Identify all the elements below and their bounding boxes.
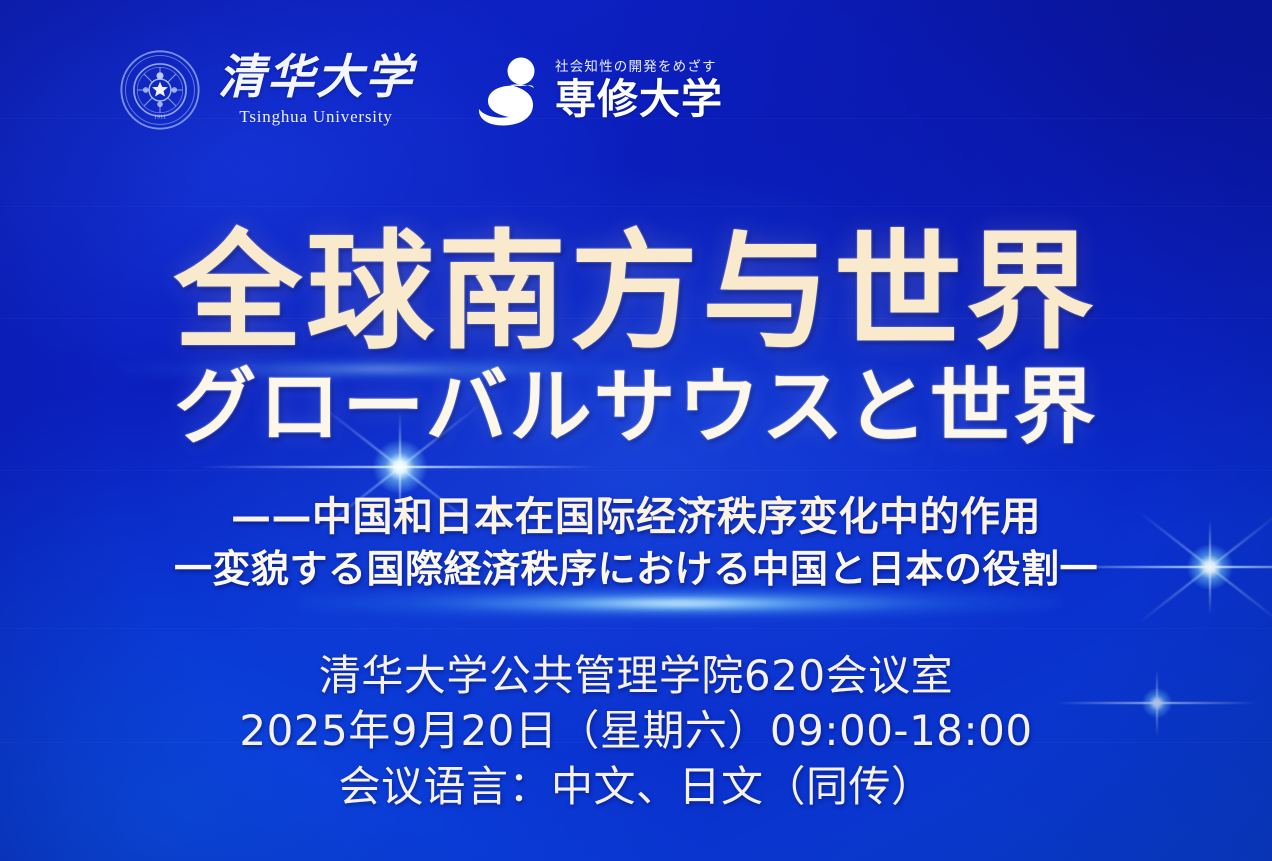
- tsinghua-seal-icon: 1911: [118, 48, 202, 132]
- senshu-name-jp: 専修大学: [555, 79, 723, 120]
- background-scanline: [0, 206, 1272, 207]
- event-venue: 清华大学公共管理学院620会议室: [0, 648, 1272, 703]
- senshu-wordmark: 社会知性の開発をめざす 専修大学: [555, 60, 723, 120]
- page-title-cn: 全球南方与世界: [0, 228, 1272, 359]
- tsinghua-wordmark: 清华大学 Tsinghua University: [218, 55, 414, 125]
- senshu-tagline: 社会知性の開発をめざす: [555, 60, 723, 74]
- page-title-jp: グローバルサウスと世界: [0, 365, 1272, 450]
- senshu-logo: 社会知性の開発をめざす 専修大学: [476, 53, 723, 127]
- headline-block: 全球南方与世界 グローバルサウスと世界: [0, 228, 1272, 450]
- event-details-block: 清华大学公共管理学院620会议室 2025年9月20日（星期六）09:00-18…: [0, 648, 1272, 814]
- tsinghua-name-en: Tsinghua University: [239, 108, 392, 125]
- logo-row: 1911 清华大学 Tsinghua University 社会知性の開発をめざ…: [118, 48, 723, 132]
- conference-poster: 1911 清华大学 Tsinghua University 社会知性の開発をめざ…: [0, 0, 1272, 861]
- subheadline-block: ——中国和日本在国际经济秩序变化中的作用 一変貌する国際経済秩序における中国と日…: [0, 492, 1272, 594]
- tsinghua-logo: 1911 清华大学 Tsinghua University: [118, 48, 414, 132]
- svg-text:1911: 1911: [154, 114, 166, 121]
- background-scanline: [0, 470, 1272, 471]
- event-language: 会议语言：中文、日文（同传）: [0, 759, 1272, 814]
- senshu-s-mark-icon: [476, 53, 542, 127]
- tsinghua-name-cn: 清华大学: [218, 55, 414, 102]
- subtitle-jp: 一変貌する国際経済秩序における中国と日本の役割一: [0, 546, 1272, 594]
- subtitle-cn: ——中国和日本在国际经济秩序变化中的作用: [0, 492, 1272, 542]
- event-datetime: 2025年9月20日（星期六）09:00-18:00: [0, 703, 1272, 758]
- background-scanline: [0, 628, 1272, 629]
